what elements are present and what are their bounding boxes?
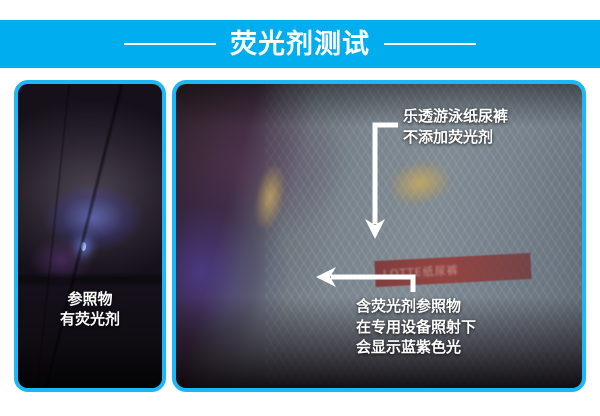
product-top-caption-line-1: 乐透游泳纸尿裤 bbox=[403, 106, 508, 127]
reference-caption: 参照物 有荧光剂 bbox=[18, 290, 162, 330]
header-rule-left bbox=[124, 43, 216, 45]
header-banner: 荧光剂测试 bbox=[0, 20, 600, 68]
product-bottom-caption: 含荧光剂参照物 在专用设备照射下 会显示蓝紫色光 bbox=[356, 296, 476, 358]
product-bottom-caption-line-1: 含荧光剂参照物 bbox=[356, 296, 476, 317]
product-bottom-caption-line-2: 在专用设备照射下 bbox=[356, 317, 476, 338]
uv-glow-spot bbox=[81, 242, 86, 251]
product-top-caption-line-2: 不添加荧光剂 bbox=[403, 127, 508, 148]
page-title: 荧光剂测试 bbox=[230, 31, 370, 58]
panel-product: LOTTE纸尿裤 乐透游泳纸尿裤 不添加荧光剂 bbox=[172, 80, 586, 392]
reference-caption-line-2: 有荧光剂 bbox=[18, 310, 162, 330]
reference-uv-photo bbox=[18, 84, 162, 388]
product-bottom-caption-line-3: 会显示蓝紫色光 bbox=[356, 337, 476, 358]
panel-reference: 参照物 有荧光剂 bbox=[14, 80, 166, 392]
product-top-caption: 乐透游泳纸尿裤 不添加荧光剂 bbox=[403, 106, 508, 147]
photo-panels: 参照物 有荧光剂 LOTTE纸尿裤 bbox=[14, 80, 586, 392]
header-rule-right bbox=[384, 43, 476, 45]
reference-caption-line-1: 参照物 bbox=[18, 290, 162, 310]
